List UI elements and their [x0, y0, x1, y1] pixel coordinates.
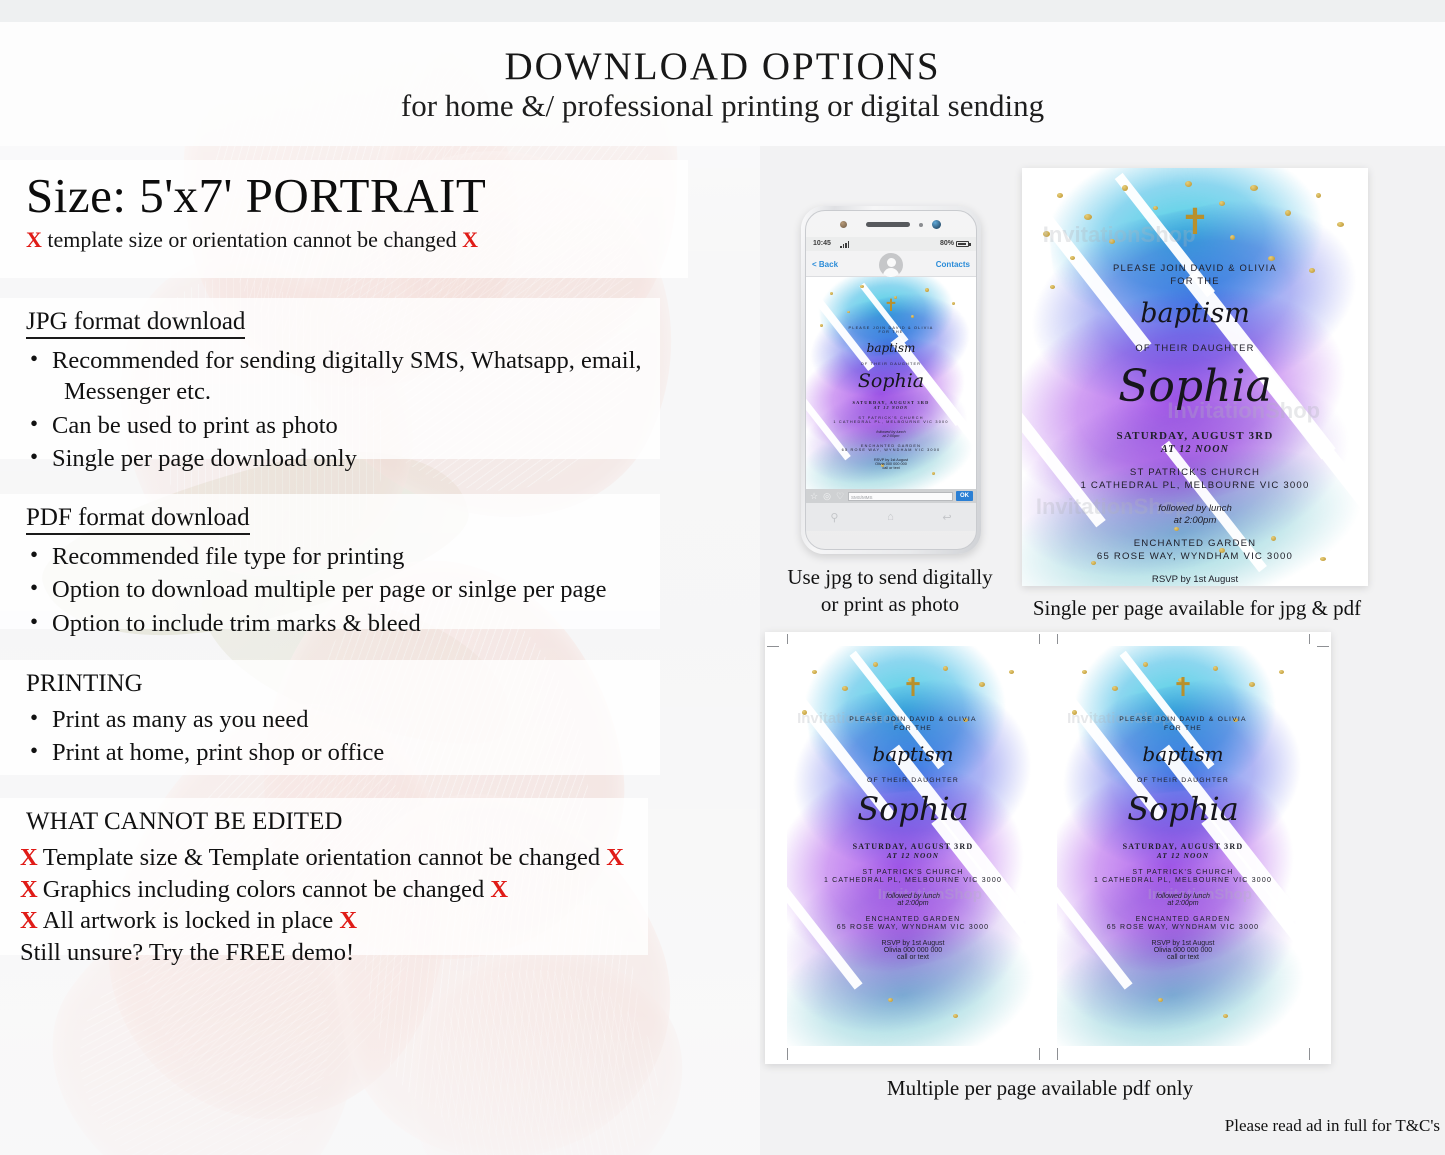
invite-time: AT 12 NOON [806, 405, 976, 410]
x-mark-icon: X [339, 907, 357, 934]
search-icon[interactable]: ⚲ [830, 511, 838, 524]
trim-mark [1057, 634, 1058, 644]
invite-rsvp-1: RSVP by 1st August [1057, 940, 1309, 947]
invite-lunch-2: at 2:00pm [1022, 515, 1368, 526]
invite-date: SATURDAY, AUGUST 3RD [1022, 430, 1368, 442]
list-item: Single per page download only [26, 443, 646, 474]
invite-venue-address: 1 CATHEDRAL PL, MELBOURNE VIC 3000 [787, 877, 1039, 884]
list-item: Option to download multiple per page or … [26, 574, 646, 605]
cross-icon: ✝ [787, 674, 1039, 700]
invite-venue-address: 1 CATHEDRAL PL, MELBOURNE VIC 3000 [806, 420, 976, 424]
message-input[interactable]: SMS/MMS [848, 492, 953, 501]
list-item: Option to include trim marks & bleed [26, 608, 646, 639]
invite-rsvp-3: call or text [806, 466, 976, 470]
invite-name: Sophia [1022, 361, 1368, 412]
ok-button[interactable]: OK [956, 491, 973, 501]
phone-caption-line2: or print as photo [730, 591, 1050, 618]
cannot-edit-text: All artwork is locked in place [43, 907, 334, 934]
phone-invitation-preview: ✝ PLEASE JOIN DAVID & OLIVIA FOR THE bap… [806, 277, 976, 489]
sheet-invitation-card: InvitationShop InvitationShop ✝ PLEASE J… [1057, 646, 1309, 1046]
invite-rsvp-1: RSVP by 1st August [787, 940, 1039, 947]
invite-reception-address: 65 ROSE WAY, WYNDHAM VIC 3000 [806, 448, 976, 452]
invite-line2: FOR THE [1057, 725, 1309, 732]
invite-reception-address: 65 ROSE WAY, WYNDHAM VIC 3000 [1057, 924, 1309, 931]
pdf-section-heading: PDF format download [26, 504, 250, 535]
page-header: DOWNLOAD OPTIONS for home &/ professiona… [0, 0, 1445, 146]
multiple-per-page-sheet: InvitationShop InvitationShop ✝ PLEASE J… [765, 632, 1331, 1064]
invite-date: SATURDAY, AUGUST 3RD [1057, 842, 1309, 851]
trim-mark [767, 646, 779, 647]
signal-icon [840, 241, 849, 248]
invite-lunch-1: followed by lunch [1057, 893, 1309, 900]
invite-event: baptism [806, 341, 976, 355]
status-battery-text: 80% [940, 240, 954, 247]
front-camera-icon [840, 221, 847, 228]
invite-event: baptism [787, 742, 1039, 766]
invite-reception-name: ENCHANTED GARDEN [1022, 538, 1368, 549]
invite-name: Sophia [806, 370, 976, 392]
phone-caption-line1: Use jpg to send digitally [730, 564, 1050, 591]
invite-event: baptism [1022, 298, 1368, 329]
back-button[interactable]: < Back [812, 260, 838, 269]
multiple-page-caption: Multiple per page available pdf only [730, 1076, 1350, 1101]
header-top-strip [0, 0, 1445, 22]
invite-time: AT 12 NOON [787, 852, 1039, 860]
jpg-bullet-list: Recommended for sending digitally SMS, W… [26, 345, 646, 474]
invite-venue-name: ST PATRICK'S CHURCH [787, 869, 1039, 876]
invite-reception-address: 65 ROSE WAY, WYNDHAM VIC 3000 [787, 924, 1039, 931]
page-subtitle: for home &/ professional printing or dig… [0, 88, 1445, 124]
phone-top-bezel [806, 211, 976, 237]
invite-lunch-2: at 2:00pm [806, 434, 976, 438]
invite-time: AT 12 NOON [1057, 852, 1309, 860]
cross-icon: ✝ [806, 297, 976, 314]
invite-lunch-2: at 2:00pm [787, 900, 1039, 907]
phone-message-toolbar: ☆ ◎ ♡ SMS/MMS OK [806, 489, 976, 503]
list-item: Print at home, print shop or office [26, 737, 646, 768]
preview-column: 10:45 80% < Back Contacts [700, 146, 1445, 1155]
invite-rsvp-1: RSVP by 1st August [1022, 574, 1368, 585]
invite-lunch-2: at 2:00pm [1057, 900, 1309, 907]
invite-relation: OF THEIR DAUGHTER [1022, 342, 1368, 353]
x-mark-icon: X [20, 876, 38, 903]
invite-rsvp-2: Olivia 000 000 000 [787, 947, 1039, 954]
phone-mockup: 10:45 80% < Back Contacts [801, 206, 981, 554]
trim-mark [787, 1048, 788, 1060]
invite-line2: FOR THE [787, 725, 1039, 732]
invite-line2: FOR THE [806, 330, 976, 334]
x-mark-icon: X [606, 844, 624, 871]
list-item: Messenger etc. [26, 376, 646, 407]
terms-note: Please read ad in full for T&C's [1080, 1116, 1440, 1136]
invite-venue-address: 1 CATHEDRAL PL, MELBOURNE VIC 3000 [1057, 877, 1309, 884]
proximity-sensor-icon [919, 223, 923, 227]
invite-venue-name: ST PATRICK'S CHURCH [1057, 869, 1309, 876]
invite-rsvp-2: Olivia 000 000 000 [1057, 947, 1309, 954]
x-mark-icon: X [20, 907, 38, 934]
list-item: Recommended file type for printing [26, 541, 646, 572]
phone-screen-body: 10:45 80% < Back Contacts [805, 210, 977, 550]
invite-relation: OF THEIR DAUGHTER [787, 777, 1039, 784]
page-title: DOWNLOAD OPTIONS [0, 44, 1445, 89]
single-page-caption: Single per page available for jpg & pdf [1022, 596, 1372, 621]
invite-lunch-1: followed by lunch [1022, 503, 1368, 514]
phone-system-nav: ⚲ ⌂ ↩ [806, 503, 976, 531]
earpiece-speaker-icon [866, 222, 910, 227]
phone-status-bar: 10:45 80% [806, 237, 976, 251]
invite-name: Sophia [1057, 790, 1309, 828]
trim-mark [1309, 1048, 1310, 1060]
phone-caption: Use jpg to send digitally or print as ph… [730, 564, 1050, 618]
invite-date: SATURDAY, AUGUST 3RD [787, 842, 1039, 851]
pdf-format-section: PDF format download Recommended file typ… [0, 494, 660, 629]
avatar [879, 253, 903, 277]
cannot-edit-section: WHAT CANNOT BE EDITED XTemplate size & T… [0, 798, 648, 955]
invite-time: AT 12 NOON [1022, 444, 1368, 455]
invite-rsvp-3: call or text [787, 954, 1039, 961]
info-column: Size: 5'x7' PORTRAIT X template size or … [0, 146, 700, 1155]
size-note: X template size or orientation cannot be… [0, 221, 688, 253]
invite-name: Sophia [787, 790, 1039, 828]
cannot-edit-heading: WHAT CANNOT BE EDITED [26, 808, 342, 836]
heart-icon[interactable]: ♡ [835, 491, 845, 501]
x-mark-icon: X [20, 844, 38, 871]
printing-section: PRINTING Print as many as you need Print… [0, 660, 660, 775]
printing-section-heading: PRINTING [26, 670, 143, 698]
free-demo-line: Still unsure? Try the FREE demo! [20, 937, 634, 969]
invite-reception-name: ENCHANTED GARDEN [1057, 916, 1309, 923]
trim-mark [1317, 646, 1329, 647]
invitation-text: ✝ PLEASE JOIN DAVID & OLIVIA FOR THE bap… [787, 646, 1039, 1046]
invite-line1: PLEASE JOIN DAVID & OLIVIA [1022, 262, 1368, 273]
trim-mark [1309, 634, 1310, 644]
status-time: 10:45 [813, 240, 831, 247]
invite-reception-address: 65 ROSE WAY, WYNDHAM VIC 3000 [1022, 551, 1368, 562]
invite-relation: OF THEIR DAUGHTER [806, 362, 976, 366]
phone-invitation-text: ✝ PLEASE JOIN DAVID & OLIVIA FOR THE bap… [806, 277, 976, 489]
x-mark-icon: X [462, 227, 478, 252]
size-section: Size: 5'x7' PORTRAIT X template size or … [0, 160, 688, 278]
trim-mark [1057, 1048, 1058, 1060]
size-note-text: template size or orientation cannot be c… [47, 227, 456, 252]
list-item: Recommended for sending digitally SMS, W… [26, 345, 646, 376]
cross-icon: ✝ [1022, 204, 1368, 240]
sheet-invitation-card: InvitationShop InvitationShop ✝ PLEASE J… [787, 646, 1039, 1046]
jpg-format-section: JPG format download Recommended for send… [0, 298, 660, 459]
cannot-edit-text: Graphics including colors cannot be chan… [43, 876, 485, 903]
contacts-button[interactable]: Contacts [936, 260, 970, 269]
phone-nav-bar: < Back Contacts [806, 251, 976, 277]
cannot-edit-text: Template size & Template orientation can… [43, 844, 600, 871]
list-item: Can be used to print as photo [26, 410, 646, 441]
battery-icon [956, 241, 969, 247]
list-item: Print as many as you need [26, 704, 646, 735]
invite-relation: OF THEIR DAUGHTER [1057, 777, 1309, 784]
camera-icon[interactable]: ◎ [822, 491, 832, 501]
invitation-text: ✝ PLEASE JOIN DAVID & OLIVIA FOR THE bap… [1057, 646, 1309, 1046]
invite-lunch-1: followed by lunch [787, 893, 1039, 900]
pdf-bullet-list: Recommended file type for printing Optio… [26, 541, 646, 639]
invite-rsvp-3: call or text [1057, 954, 1309, 961]
invite-line1: PLEASE JOIN DAVID & OLIVIA [787, 716, 1039, 723]
invite-venue-address: 1 CATHEDRAL PL, MELBOURNE VIC 3000 [1022, 480, 1368, 491]
invite-event: baptism [1057, 742, 1309, 766]
star-icon[interactable]: ☆ [809, 491, 819, 501]
invitation-text: ✝ PLEASE JOIN DAVID & OLIVIA FOR THE bap… [1022, 168, 1368, 586]
invite-line1: PLEASE JOIN DAVID & OLIVIA [1057, 716, 1309, 723]
cross-icon: ✝ [1057, 674, 1309, 700]
cannot-edit-line: XGraphics including colors cannot be cha… [20, 874, 634, 906]
x-mark-icon: X [490, 876, 508, 903]
cannot-edit-line: XTemplate size & Template orientation ca… [20, 842, 634, 874]
trim-mark [1039, 634, 1040, 644]
invite-venue-name: ST PATRICK'S CHURCH [1022, 467, 1368, 478]
invite-reception-name: ENCHANTED GARDEN [787, 916, 1039, 923]
trim-mark [787, 634, 788, 644]
x-mark-icon: X [26, 227, 42, 252]
single-invitation-card: InvitationShop InvitationShop Invitation… [1022, 168, 1368, 586]
secondary-camera-icon [932, 220, 941, 229]
trim-mark [1039, 1048, 1040, 1060]
invite-line2: FOR THE [1022, 275, 1368, 286]
home-icon[interactable]: ⌂ [887, 511, 894, 523]
size-title: Size: 5'x7' PORTRAIT [0, 160, 688, 221]
printing-bullet-list: Print as many as you need Print at home,… [26, 704, 646, 769]
back-nav-icon[interactable]: ↩ [942, 511, 951, 524]
cannot-edit-line: XAll artwork is locked in place X [20, 905, 634, 937]
jpg-section-heading: JPG format download [26, 308, 245, 339]
